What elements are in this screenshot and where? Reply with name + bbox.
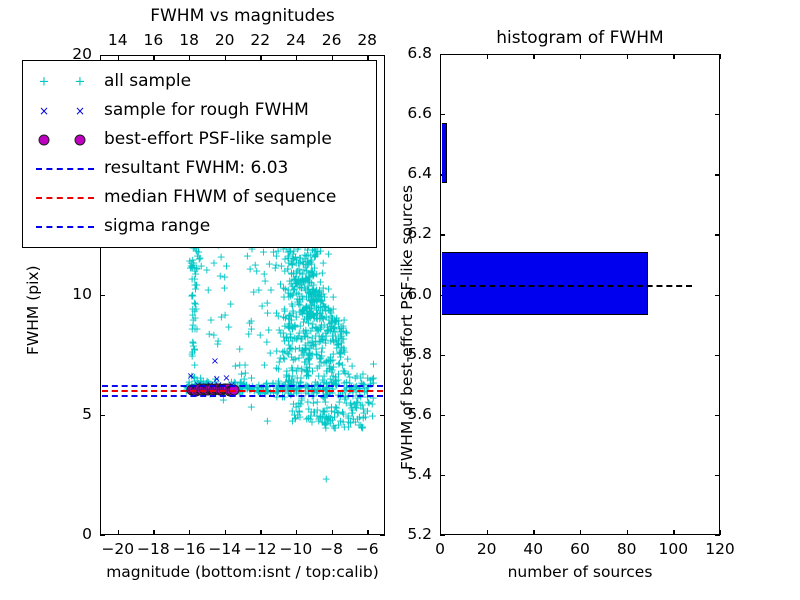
data-point-all-sample: + xyxy=(188,337,197,348)
data-point-all-sample: + xyxy=(283,348,292,359)
data-point-all-sample: + xyxy=(325,362,334,373)
data-point-all-sample: + xyxy=(298,257,307,268)
data-point-all-sample: + xyxy=(326,355,335,366)
data-point-all-sample: + xyxy=(333,407,342,418)
data-point-all-sample: + xyxy=(297,280,306,291)
data-point-all-sample: + xyxy=(322,412,331,423)
data-point-all-sample: + xyxy=(317,291,326,302)
data-point-all-sample: + xyxy=(293,266,302,277)
data-point-all-sample: + xyxy=(260,276,269,287)
data-point-all-sample: + xyxy=(351,372,360,383)
data-point-all-sample: + xyxy=(305,288,314,299)
data-point-all-sample: + xyxy=(318,343,327,354)
data-point-all-sample: + xyxy=(300,282,309,293)
data-point-all-sample: + xyxy=(318,374,327,385)
data-point-all-sample: + xyxy=(366,379,375,390)
data-point-all-sample: + xyxy=(291,271,300,282)
plus-icon: + xyxy=(75,75,86,88)
data-point-all-sample: + xyxy=(315,291,324,302)
legend-item-label: sample for rough FWHM xyxy=(104,102,309,119)
data-point-all-sample: + xyxy=(301,357,310,368)
x-top-tick-label: 18 xyxy=(169,33,209,49)
data-point-all-sample: + xyxy=(244,329,253,340)
data-point-all-sample: + xyxy=(288,259,297,270)
data-point-all-sample: + xyxy=(324,248,333,259)
data-point-all-sample: + xyxy=(188,309,197,320)
data-point-all-sample: + xyxy=(309,288,318,299)
data-point-all-sample: + xyxy=(300,356,309,367)
data-point-all-sample: + xyxy=(289,285,298,296)
data-point-all-sample: + xyxy=(299,347,308,358)
x-tick-label: 0 xyxy=(418,542,462,558)
data-point-all-sample: + xyxy=(287,279,296,290)
data-point-all-sample: + xyxy=(294,258,303,269)
data-point-all-sample: + xyxy=(323,325,332,336)
data-point-all-sample: + xyxy=(319,283,328,294)
data-point-all-sample: + xyxy=(287,258,296,269)
data-point-all-sample: + xyxy=(309,339,318,350)
data-point-all-sample: + xyxy=(284,370,293,381)
data-point-all-sample: + xyxy=(192,262,201,273)
data-point-all-sample: + xyxy=(288,416,297,427)
data-point-all-sample: + xyxy=(306,256,315,267)
data-point-all-sample: + xyxy=(306,295,315,306)
data-point-all-sample: + xyxy=(310,311,319,322)
data-point-all-sample: + xyxy=(319,257,328,268)
data-point-all-sample: + xyxy=(332,312,341,323)
data-point-all-sample: + xyxy=(329,303,338,314)
data-point-all-sample: + xyxy=(281,313,290,324)
data-point-all-sample: + xyxy=(280,335,289,346)
data-point-all-sample: + xyxy=(286,343,295,354)
data-point-all-sample: + xyxy=(301,324,310,335)
data-point-all-sample: + xyxy=(209,257,218,268)
data-point-all-sample: + xyxy=(302,313,311,324)
legend-item-label: median FHWM of sequence xyxy=(104,189,336,206)
data-point-all-sample: + xyxy=(290,319,299,330)
data-point-all-sample: + xyxy=(311,343,320,354)
data-point-all-sample: + xyxy=(329,370,338,381)
data-point-all-sample: + xyxy=(288,248,297,259)
data-point-all-sample: + xyxy=(323,325,332,336)
data-point-all-sample: + xyxy=(272,251,281,262)
data-point-all-sample: + xyxy=(296,399,305,410)
data-point-all-sample: + xyxy=(292,334,301,345)
data-point-all-sample: + xyxy=(295,327,304,338)
data-point-all-sample: + xyxy=(314,288,323,299)
scatter-title: FWHM vs magnitudes xyxy=(100,8,385,25)
data-point-all-sample: + xyxy=(262,379,271,390)
data-point-all-sample: + xyxy=(285,275,294,286)
data-point-all-sample: + xyxy=(331,422,340,433)
data-point-all-sample: + xyxy=(323,321,332,332)
data-point-all-sample: + xyxy=(290,274,299,285)
data-point-all-sample: + xyxy=(186,263,195,274)
data-point-all-sample: + xyxy=(313,248,322,259)
data-point-all-sample: + xyxy=(327,405,336,416)
data-point-all-sample: + xyxy=(324,284,333,295)
data-point-all-sample: + xyxy=(319,371,328,382)
data-point-all-sample: + xyxy=(337,342,346,353)
histogram-xlabel: number of sources xyxy=(440,565,720,581)
data-point-all-sample: + xyxy=(313,314,322,325)
data-point-all-sample: + xyxy=(334,419,343,430)
data-point-all-sample: + xyxy=(310,313,319,324)
data-point-all-sample: + xyxy=(187,274,196,285)
data-point-all-sample: + xyxy=(330,315,339,326)
y-tick-label: 6.2 xyxy=(390,226,432,242)
data-point-all-sample: + xyxy=(305,305,314,316)
legend-key-blue-dashdot xyxy=(30,216,104,238)
data-point-all-sample: + xyxy=(306,289,315,300)
data-point-all-sample: + xyxy=(338,360,347,371)
data-point-all-sample: + xyxy=(337,322,346,333)
data-point-all-sample: + xyxy=(287,363,296,374)
data-point-all-sample: + xyxy=(354,420,363,431)
data-point-all-sample: + xyxy=(311,294,320,305)
data-point-all-sample: + xyxy=(303,280,312,291)
data-point-all-sample: + xyxy=(310,296,319,307)
legend-item-3: resultant FWHM: 6.03 xyxy=(30,154,367,183)
data-point-all-sample: + xyxy=(302,273,311,284)
data-point-all-sample: + xyxy=(308,270,317,281)
data-point-all-sample: + xyxy=(311,323,320,334)
data-point-all-sample: + xyxy=(303,274,312,285)
data-point-all-sample: + xyxy=(272,346,281,357)
data-point-all-sample: + xyxy=(191,269,200,280)
data-point-all-sample: + xyxy=(307,341,316,352)
data-point-all-sample: + xyxy=(292,288,301,299)
data-point-all-sample: + xyxy=(329,323,338,334)
data-point-all-sample: + xyxy=(301,364,310,375)
data-point-all-sample: + xyxy=(295,252,304,263)
data-point-all-sample: + xyxy=(321,418,330,429)
data-point-all-sample: + xyxy=(304,318,313,329)
data-point-all-sample: + xyxy=(334,338,343,349)
data-point-all-sample: + xyxy=(283,252,292,263)
data-point-all-sample: + xyxy=(187,349,196,360)
data-point-all-sample: + xyxy=(339,323,348,334)
data-point-all-sample: + xyxy=(315,322,324,333)
data-point-all-sample: + xyxy=(317,311,326,322)
data-point-all-sample: + xyxy=(312,326,321,337)
data-point-all-sample: + xyxy=(316,411,325,422)
data-point-all-sample: + xyxy=(331,378,340,389)
data-point-all-sample: + xyxy=(249,287,258,298)
data-point-all-sample: + xyxy=(369,359,378,370)
data-point-all-sample: + xyxy=(293,410,302,421)
data-point-all-sample: + xyxy=(342,327,351,338)
data-point-all-sample: + xyxy=(310,252,319,263)
data-point-all-sample: + xyxy=(197,261,206,272)
data-point-all-sample: + xyxy=(284,314,293,325)
data-point-all-sample: + xyxy=(341,392,350,403)
legend-key-plus: ++ xyxy=(30,71,104,93)
data-point-all-sample: + xyxy=(340,365,349,376)
data-point-all-sample: + xyxy=(319,357,328,368)
data-point-all-sample: + xyxy=(290,283,299,294)
data-point-all-sample: + xyxy=(317,331,326,342)
data-point-all-sample: + xyxy=(213,335,222,346)
data-point-all-sample: + xyxy=(237,368,246,379)
data-point-all-sample: + xyxy=(356,373,365,384)
data-point-all-sample: + xyxy=(280,253,289,264)
data-point-all-sample: + xyxy=(298,304,307,315)
data-point-all-sample: + xyxy=(327,366,336,377)
data-point-all-sample: + xyxy=(313,405,322,416)
data-point-all-sample: + xyxy=(217,311,226,322)
data-point-all-sample: + xyxy=(235,344,244,355)
data-point-all-sample: + xyxy=(303,259,312,270)
data-point-all-sample: + xyxy=(288,306,297,317)
data-point-all-sample: + xyxy=(337,337,346,348)
data-point-all-sample: + xyxy=(304,355,313,366)
data-point-all-sample: + xyxy=(330,407,339,418)
data-point-all-sample: + xyxy=(337,326,346,337)
data-point-all-sample: + xyxy=(318,406,327,417)
data-point-all-sample: + xyxy=(289,308,298,319)
data-point-all-sample: + xyxy=(209,329,218,340)
data-point-all-sample: + xyxy=(190,324,199,335)
data-point-all-sample: + xyxy=(292,267,301,278)
data-point-all-sample: + xyxy=(190,344,199,355)
data-point-all-sample: + xyxy=(293,332,302,343)
data-point-all-sample: + xyxy=(303,249,312,260)
data-point-all-sample: + xyxy=(241,367,250,378)
data-point-all-sample: + xyxy=(293,278,302,289)
y-tick-label: 0 xyxy=(48,527,92,543)
data-point-all-sample: + xyxy=(302,370,311,381)
data-point-all-sample: + xyxy=(288,323,297,334)
data-point-all-sample: + xyxy=(305,306,314,317)
data-point-all-sample: + xyxy=(320,418,329,429)
data-point-all-sample: + xyxy=(307,254,316,265)
y-tick xyxy=(440,535,445,536)
data-point-all-sample: + xyxy=(281,283,290,294)
data-point-all-sample: + xyxy=(323,325,332,336)
data-point-all-sample: + xyxy=(189,260,198,271)
data-point-all-sample: + xyxy=(275,325,284,336)
data-point-all-sample: + xyxy=(288,252,297,263)
data-point-all-sample: + xyxy=(297,392,306,403)
data-point-all-sample: + xyxy=(330,314,339,325)
legend-item-0: ++all sample xyxy=(30,67,367,96)
data-point-all-sample: + xyxy=(359,407,368,418)
y-tick-label: 6.8 xyxy=(390,46,432,62)
data-point-all-sample: + xyxy=(303,285,312,296)
data-point-all-sample: + xyxy=(287,362,296,373)
data-point-all-sample: + xyxy=(304,268,313,279)
data-point-all-sample: + xyxy=(259,247,268,258)
data-point-all-sample: + xyxy=(356,400,365,411)
data-point-all-sample: + xyxy=(299,276,308,287)
data-point-all-sample: + xyxy=(305,303,314,314)
data-point-all-sample: + xyxy=(316,277,325,288)
data-point-all-sample: + xyxy=(280,345,289,356)
data-point-all-sample: + xyxy=(342,397,351,408)
data-point-all-sample: + xyxy=(263,307,272,318)
data-point-all-sample: + xyxy=(332,343,341,354)
legend-key-cross: ×× xyxy=(30,100,104,122)
data-point-all-sample: + xyxy=(339,408,348,419)
data-point-all-sample: + xyxy=(325,318,334,329)
circle-icon xyxy=(39,134,50,145)
data-point-all-sample: + xyxy=(331,317,340,328)
data-point-all-sample: + xyxy=(356,392,365,403)
legend-item-4: median FHWM of sequence xyxy=(30,183,367,212)
data-point-all-sample: + xyxy=(278,392,287,403)
data-point-all-sample: + xyxy=(279,282,288,293)
data-point-all-sample: + xyxy=(202,264,211,275)
data-point-all-sample: + xyxy=(340,421,349,432)
data-point-all-sample: + xyxy=(306,326,315,337)
data-point-all-sample: + xyxy=(358,421,367,432)
data-point-all-sample: + xyxy=(358,400,367,411)
data-point-all-sample: + xyxy=(301,332,310,343)
data-point-all-sample: + xyxy=(306,250,315,261)
data-point-all-sample: + xyxy=(308,332,317,343)
legend-item-label: best-effort PSF-like sample xyxy=(104,131,332,148)
data-point-all-sample: + xyxy=(298,273,307,284)
data-point-all-sample: + xyxy=(313,307,322,318)
data-point-all-sample: + xyxy=(283,263,292,274)
data-point-all-sample: + xyxy=(305,305,314,316)
x-tick-top xyxy=(720,54,721,59)
data-point-all-sample: + xyxy=(304,284,313,295)
data-point-all-sample: + xyxy=(284,375,293,386)
data-point-all-sample: + xyxy=(352,370,361,381)
data-point-all-sample: + xyxy=(313,323,322,334)
data-point-all-sample: + xyxy=(191,303,200,314)
data-point-all-sample: + xyxy=(188,304,197,315)
y-tick xyxy=(100,535,105,536)
data-point-all-sample: + xyxy=(298,293,307,304)
data-point-all-sample: + xyxy=(190,280,199,291)
data-point-all-sample: + xyxy=(284,322,293,333)
data-point-all-sample: + xyxy=(330,316,339,327)
data-point-all-sample: + xyxy=(318,313,327,324)
data-point-all-sample: + xyxy=(301,303,310,314)
data-point-all-sample: + xyxy=(307,292,316,303)
data-point-all-sample: + xyxy=(286,332,295,343)
data-point-all-sample: + xyxy=(308,322,317,333)
data-point-all-sample: + xyxy=(279,311,288,322)
data-point-all-sample: + xyxy=(295,407,304,418)
data-point-all-sample: + xyxy=(334,358,343,369)
data-point-all-sample: + xyxy=(324,304,333,315)
data-point-all-sample: + xyxy=(188,351,197,362)
data-point-all-sample: + xyxy=(193,251,202,262)
data-point-all-sample: + xyxy=(327,318,336,329)
data-point-all-sample: + xyxy=(314,325,323,336)
data-point-all-sample: + xyxy=(317,319,326,330)
data-point-all-sample: + xyxy=(247,373,256,384)
data-point-all-sample: + xyxy=(299,316,308,327)
data-point-all-sample: + xyxy=(284,336,293,347)
data-point-all-sample: + xyxy=(329,362,338,373)
data-point-all-sample: + xyxy=(329,326,338,337)
data-point-all-sample: + xyxy=(231,360,240,371)
data-point-all-sample: + xyxy=(326,374,335,385)
data-point-all-sample: + xyxy=(289,254,298,265)
data-point-all-sample: + xyxy=(287,260,296,271)
data-point-all-sample: + xyxy=(305,271,314,282)
data-point-all-sample: + xyxy=(295,306,304,317)
data-point-all-sample: + xyxy=(304,272,313,283)
data-point-all-sample: + xyxy=(294,264,303,275)
data-point-all-sample: + xyxy=(307,258,316,269)
legend-item-label: sigma range xyxy=(104,218,210,235)
data-point-all-sample: + xyxy=(216,251,225,262)
data-point-all-sample: + xyxy=(312,296,321,307)
data-point-all-sample: + xyxy=(188,347,197,358)
data-point-all-sample: + xyxy=(330,374,339,385)
data-point-all-sample: + xyxy=(309,295,318,306)
data-point-all-sample: + xyxy=(355,412,364,423)
data-point-all-sample: + xyxy=(296,306,305,317)
data-point-all-sample: + xyxy=(235,359,244,370)
data-point-all-sample: + xyxy=(336,415,345,426)
data-point-all-sample: + xyxy=(334,315,343,326)
data-point-all-sample: + xyxy=(297,282,306,293)
data-point-all-sample: + xyxy=(288,281,297,292)
data-point-all-sample: + xyxy=(297,346,306,357)
data-point-all-sample: + xyxy=(318,334,327,345)
data-point-all-sample: + xyxy=(308,295,317,306)
data-point-all-sample: + xyxy=(303,313,312,324)
data-point-all-sample: + xyxy=(358,422,367,433)
data-point-all-sample: + xyxy=(316,352,325,363)
data-point-all-sample: + xyxy=(291,273,300,284)
data-point-all-sample: + xyxy=(307,407,316,418)
data-point-all-sample: + xyxy=(314,303,323,314)
data-point-all-sample: + xyxy=(319,313,328,324)
data-point-all-sample: + xyxy=(287,344,296,355)
data-point-all-sample: + xyxy=(307,299,316,310)
data-point-all-sample: + xyxy=(338,407,347,418)
data-point-all-sample: + xyxy=(311,286,320,297)
data-point-all-sample: + xyxy=(190,345,199,356)
data-point-all-sample: + xyxy=(282,369,291,380)
data-point-all-sample: + xyxy=(301,262,310,273)
data-point-all-sample: + xyxy=(305,311,314,322)
data-point-all-sample: + xyxy=(189,258,198,269)
data-point-all-sample: + xyxy=(188,291,197,302)
data-point-all-sample: + xyxy=(303,331,312,342)
blue-dashed-line-icon xyxy=(36,168,94,170)
legend-key-red-dashed xyxy=(30,187,104,209)
data-point-all-sample: + xyxy=(187,261,196,272)
data-point-all-sample: + xyxy=(222,261,231,272)
data-point-all-sample: + xyxy=(297,275,306,286)
data-point-all-sample: + xyxy=(302,361,311,372)
data-point-all-sample: + xyxy=(306,269,315,280)
data-point-all-sample: + xyxy=(328,313,337,324)
data-point-all-sample: + xyxy=(312,349,321,360)
y-tick-right xyxy=(715,535,720,536)
data-point-all-sample: + xyxy=(288,335,297,346)
data-point-all-sample: + xyxy=(325,356,334,367)
data-point-all-sample: + xyxy=(316,411,325,422)
data-point-all-sample: + xyxy=(288,301,297,312)
data-point-all-sample: + xyxy=(328,414,337,425)
data-point-all-sample: + xyxy=(332,378,341,389)
data-point-all-sample: + xyxy=(303,308,312,319)
data-point-all-sample: + xyxy=(291,278,300,289)
data-point-all-sample: + xyxy=(296,252,305,263)
data-point-all-sample: + xyxy=(300,253,309,264)
data-point-all-sample: + xyxy=(283,320,292,331)
